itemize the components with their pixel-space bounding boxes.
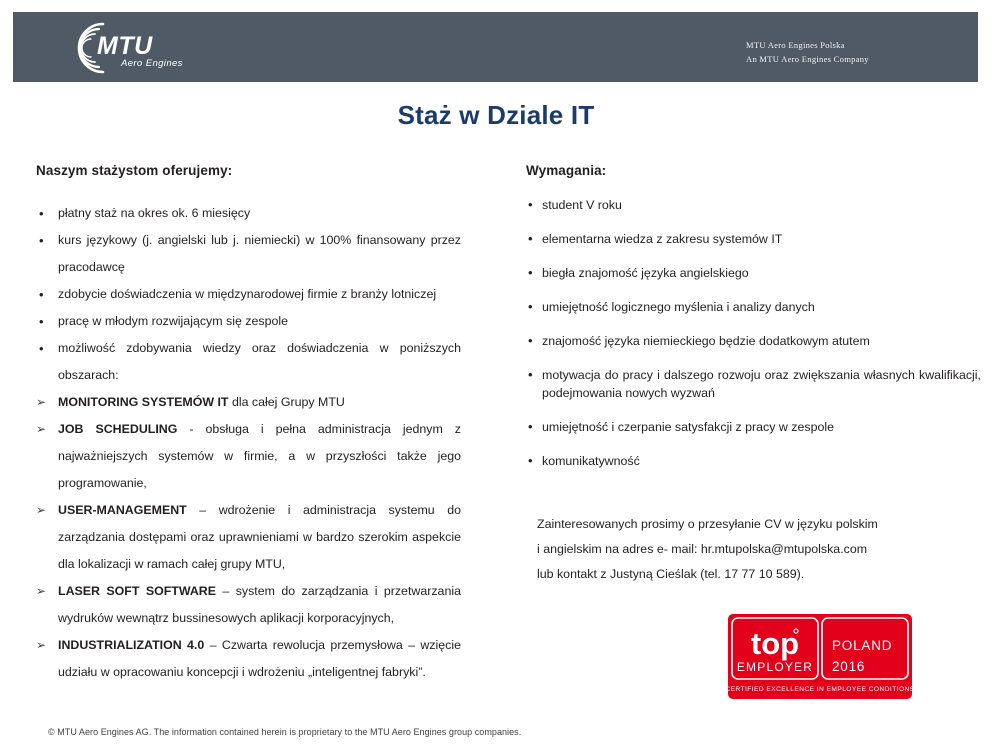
dot-bullet-icon: • — [528, 418, 533, 436]
list-item: •komunikatywność — [526, 452, 981, 470]
list-item: •kurs językowy (j. angielski lub j. niem… — [36, 227, 461, 281]
list-item: ➢MONITORING SYSTEMÓW IT dla całej Grupy … — [36, 389, 461, 416]
list-item: •elementarna wiedza z zakresu systemów I… — [526, 230, 981, 248]
top-employer-badge-svg: top EMPLOYER POLAND 2016 CERTIFIED EXCEL… — [728, 614, 912, 699]
page-title: Staż w Dziale IT — [0, 100, 992, 131]
list-item-text: motywacja do pracy i dalszego rozwoju or… — [542, 366, 981, 402]
contact-line-2: i angielskim na adres e- mail: hr.mtupol… — [537, 537, 957, 562]
list-item-text: INDUSTRIALIZATION 4.0 – Czwarta rewolucj… — [58, 632, 461, 686]
list-item: •motywacja do pracy i dalszego rozwoju o… — [526, 366, 981, 402]
list-item-text: umiejętność logicznego myślenia i analiz… — [542, 298, 981, 316]
list-item-text: MONITORING SYSTEMÓW IT dla całej Grupy M… — [58, 389, 461, 416]
list-item-text: elementarna wiedza z zakresu systemów IT — [542, 230, 981, 248]
dot-bullet-icon: • — [528, 230, 533, 248]
list-item: •pracę w młodym rozwijającym się zespole — [36, 308, 461, 335]
list-item-text: znajomość języka niemieckiego będzie dod… — [542, 332, 981, 350]
list-item: ➢USER-MANAGEMENT – wdrożenie i administr… — [36, 497, 461, 578]
badge-country: POLAND — [832, 638, 892, 653]
corporate-line-1: MTU Aero Engines Polska — [746, 38, 869, 52]
list-item: •umiejętność i czerpanie satysfakcji z p… — [526, 418, 981, 436]
list-item-lead: JOB SCHEDULING — [58, 422, 177, 436]
dot-bullet-icon: • — [528, 332, 533, 350]
mtu-aero-engines-logo: MTU Aero Engines — [57, 20, 197, 76]
badge-year: 2016 — [832, 659, 865, 674]
offer-bullet-list: •płatny staż na okres ok. 6 miesięcy•kur… — [36, 200, 461, 686]
list-item-lead: LASER SOFT SOFTWARE — [58, 584, 216, 598]
list-item-text: możliwość zdobywania wiedzy oraz doświad… — [58, 335, 461, 389]
list-item: •zdobycie doświadczenia w międzynarodowe… — [36, 281, 461, 308]
list-item: •płatny staż na okres ok. 6 miesięcy — [36, 200, 461, 227]
svg-text:MTU: MTU — [97, 32, 153, 60]
list-item-text: JOB SCHEDULING - obsługa i pełna adminis… — [58, 416, 461, 497]
arrow-bullet-icon: ➢ — [36, 578, 46, 605]
dot-bullet-icon: • — [528, 264, 533, 282]
header-bar: MTU Aero Engines MTU Aero Engines Polska… — [13, 12, 978, 82]
list-item-text: LASER SOFT SOFTWARE – system do zarządza… — [58, 578, 461, 632]
list-item-text: USER-MANAGEMENT – wdrożenie i administra… — [58, 497, 461, 578]
list-item: •biegła znajomość języka angielskiego — [526, 264, 981, 282]
requirements-bullet-list: •student V roku•elementarna wiedza z zak… — [526, 196, 981, 470]
contact-line-3: lub kontakt z Justyną Cieślak (tel. 17 7… — [537, 562, 957, 587]
list-item: •możliwość zdobywania wiedzy oraz doświa… — [36, 335, 461, 389]
list-item: ➢INDUSTRIALIZATION 4.0 – Czwarta rewoluc… — [36, 632, 461, 686]
list-item-text: biegła znajomość języka angielskiego — [542, 264, 981, 282]
svg-text:Aero Engines: Aero Engines — [120, 58, 183, 69]
mtu-logo-svg: MTU Aero Engines — [57, 20, 197, 76]
dot-bullet-icon: • — [528, 366, 533, 384]
dot-bullet-icon: • — [528, 196, 533, 214]
corporate-identity-lines: MTU Aero Engines Polska An MTU Aero Engi… — [746, 38, 869, 66]
list-item-lead: USER-MANAGEMENT — [58, 503, 187, 517]
requirements-heading: Wymagania: — [526, 163, 981, 178]
dot-bullet-icon: • — [39, 281, 44, 308]
arrow-bullet-icon: ➢ — [36, 497, 46, 524]
list-item-text: umiejętność i czerpanie satysfakcji z pr… — [542, 418, 981, 436]
list-item: •znajomość języka niemieckiego będzie do… — [526, 332, 981, 350]
list-item-lead: MONITORING SYSTEMÓW IT — [58, 395, 229, 409]
dot-bullet-icon: • — [39, 308, 44, 335]
list-item-text: kurs językowy (j. angielski lub j. niemi… — [58, 227, 461, 281]
list-item-text: pracę w młodym rozwijającym się zespole — [58, 308, 461, 335]
list-item-lead: INDUSTRIALIZATION 4.0 — [58, 638, 204, 652]
list-item-text: zdobycie doświadczenia w międzynarodowej… — [58, 281, 461, 308]
dot-bullet-icon: • — [528, 298, 533, 316]
arrow-bullet-icon: ➢ — [36, 632, 46, 659]
list-item: •umiejętność logicznego myślenia i anali… — [526, 298, 981, 316]
list-item: •student V roku — [526, 196, 981, 214]
requirements-column: Wymagania: •student V roku•elementarna w… — [526, 163, 981, 486]
dot-bullet-icon: • — [39, 335, 44, 362]
list-item-text: komunikatywność — [542, 452, 981, 470]
top-employer-poland-2016-badge: top EMPLOYER POLAND 2016 CERTIFIED EXCEL… — [728, 614, 912, 699]
offer-heading: Naszym stażystom oferujemy: — [36, 163, 461, 178]
badge-strapline: CERTIFIED EXCELLENCE IN EMPLOYEE CONDITI… — [728, 686, 912, 693]
corporate-line-2: An MTU Aero Engines Company — [746, 52, 869, 66]
badge-word-employer: EMPLOYER — [737, 660, 813, 674]
badge-word-top: top — [751, 626, 799, 661]
contact-line-1: Zainteresowanych prosimy o przesyłanie C… — [537, 512, 957, 537]
list-item: ➢JOB SCHEDULING - obsługa i pełna admini… — [36, 416, 461, 497]
dot-bullet-icon: • — [39, 200, 44, 227]
list-item-text: płatny staż na okres ok. 6 miesięcy — [58, 200, 461, 227]
list-item-text: student V roku — [542, 196, 981, 214]
dot-bullet-icon: • — [528, 452, 533, 470]
arrow-bullet-icon: ➢ — [36, 389, 46, 416]
dot-bullet-icon: • — [39, 227, 44, 254]
offer-column: Naszym stażystom oferujemy: •płatny staż… — [36, 163, 461, 686]
contact-block: Zainteresowanych prosimy o przesyłanie C… — [537, 512, 957, 587]
arrow-bullet-icon: ➢ — [36, 416, 46, 443]
list-item: ➢LASER SOFT SOFTWARE – system do zarządz… — [36, 578, 461, 632]
copyright-footer: © MTU Aero Engines AG. The information c… — [48, 727, 521, 737]
